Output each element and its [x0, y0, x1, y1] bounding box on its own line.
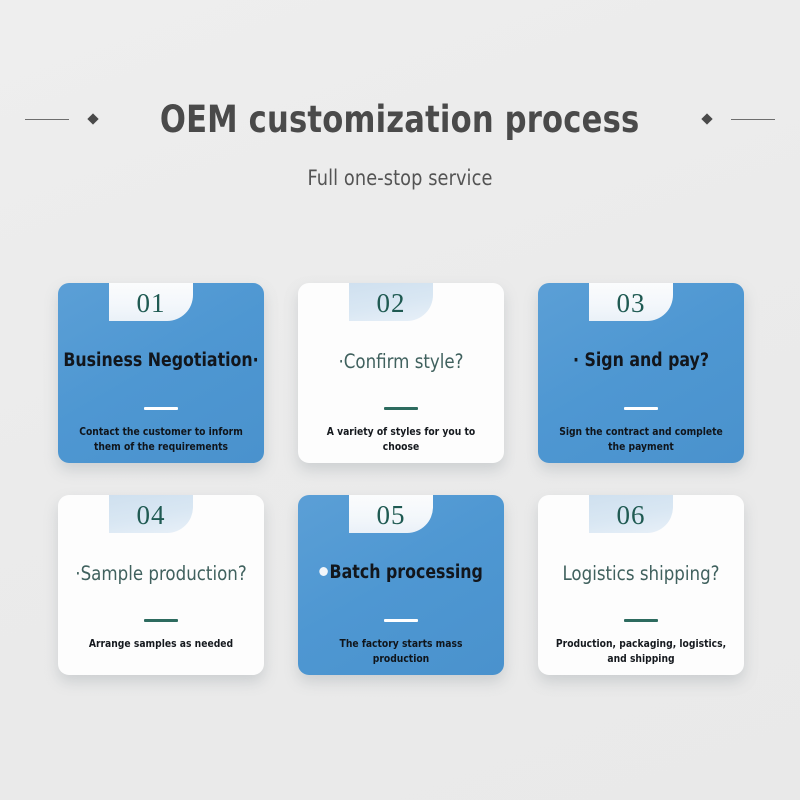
step-number-tab: 06 — [589, 495, 673, 533]
step-number: 06 — [617, 502, 646, 529]
step-divider — [624, 619, 658, 622]
step-number-tab: 05 — [349, 495, 433, 533]
bullet-dot-icon — [319, 567, 328, 576]
step-title-text: Batch processing — [330, 562, 483, 583]
step-description: Production, packaging, logistics, and sh… — [552, 637, 731, 667]
step-divider — [384, 407, 418, 410]
step-number: 05 — [377, 502, 406, 529]
left-diamond-icon — [88, 113, 99, 124]
step-number-tab: 02 — [349, 283, 433, 321]
page-header: OEM customization process Full one-stop … — [0, 92, 800, 190]
step-number: 03 — [617, 290, 646, 317]
step-number-tab: 04 — [109, 495, 193, 533]
title-row: OEM customization process — [0, 92, 800, 146]
process-card[interactable]: 02 ·Confirm style? A variety of styles f… — [298, 283, 504, 463]
process-infographic-page: OEM customization process Full one-stop … — [0, 0, 800, 800]
right-diamond-icon — [701, 113, 712, 124]
step-number: 01 — [137, 290, 166, 317]
step-title: ·Sample production? — [63, 563, 259, 584]
step-divider — [144, 407, 178, 410]
step-number-tab: 03 — [589, 283, 673, 321]
page-subtitle: Full one-stop service — [24, 166, 776, 190]
step-number: 02 — [377, 290, 406, 317]
step-divider — [624, 407, 658, 410]
process-card[interactable]: 06 Logistics shipping? Production, packa… — [538, 495, 744, 675]
step-title: ·Confirm style? — [303, 351, 499, 372]
step-title: · Sign and pay? — [543, 351, 739, 371]
process-card[interactable]: 03 · Sign and pay? Sign the contract and… — [538, 283, 744, 463]
process-card[interactable]: 01 Business Negotiation· Contact the cus… — [58, 283, 264, 463]
step-divider — [144, 619, 178, 622]
step-description: A variety of styles for you to choose — [312, 425, 491, 455]
step-title: Business Negotiation· — [63, 351, 259, 371]
step-title: Logistics shipping? — [543, 563, 739, 584]
step-description: Contact the customer to inform them of t… — [72, 425, 251, 455]
process-card[interactable]: 04 ·Sample production? Arrange samples a… — [58, 495, 264, 675]
process-card[interactable]: 05 Batch processing The factory starts m… — [298, 495, 504, 675]
step-description: Arrange samples as needed — [72, 637, 251, 652]
page-title: OEM customization process — [140, 98, 660, 141]
process-card-grid: 01 Business Negotiation· Contact the cus… — [58, 283, 744, 675]
right-rule-icon — [731, 119, 775, 120]
step-number: 04 — [137, 502, 166, 529]
step-title: Batch processing — [303, 563, 499, 583]
left-rule-icon — [25, 119, 69, 120]
step-number-tab: 01 — [109, 283, 193, 321]
step-description: The factory starts mass production — [312, 637, 491, 667]
step-divider — [384, 619, 418, 622]
step-description: Sign the contract and complete the payme… — [552, 425, 731, 455]
